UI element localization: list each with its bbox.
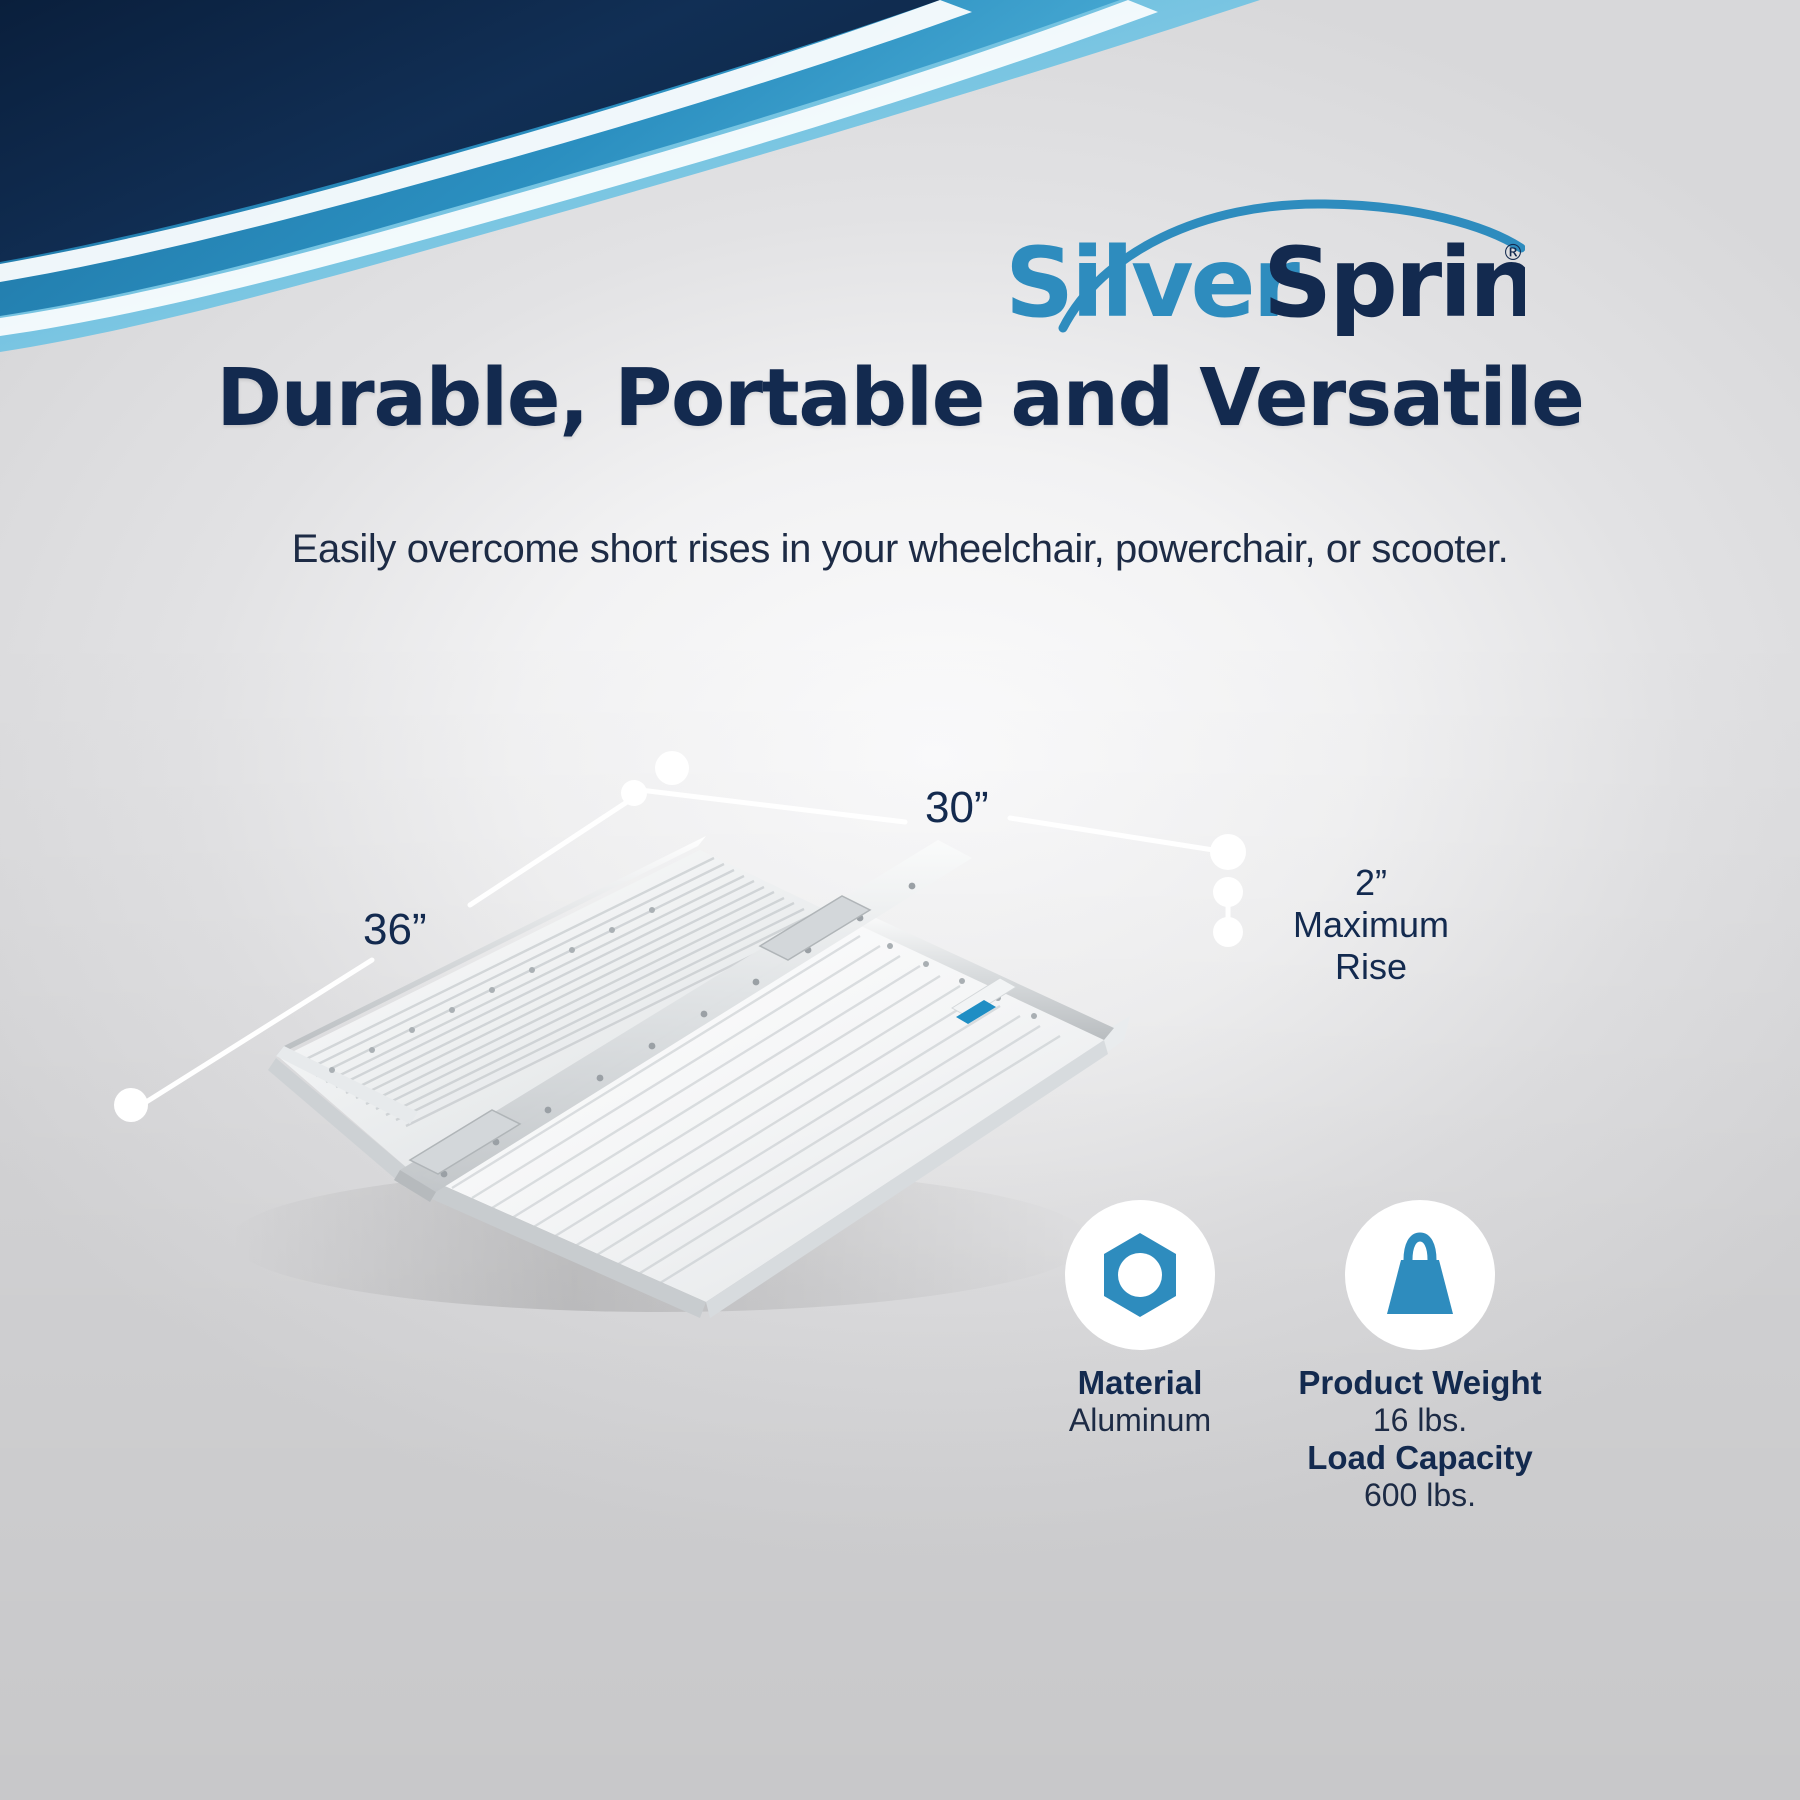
spec-material: Material Aluminum [1010, 1200, 1270, 1439]
spec-material-title: Material [1010, 1364, 1270, 1402]
svg-text:Spring: Spring [1263, 227, 1525, 336]
brand-logo: Silver Spring ® [1005, 196, 1525, 336]
page-subtitle: Easily overcome short rises in your whee… [0, 527, 1800, 572]
spec-capacity-value: 600 lbs. [1280, 1477, 1560, 1514]
callout-30-inches: 30” [925, 783, 989, 833]
callout-max-rise-line3: Rise [1266, 946, 1476, 988]
spec-material-value: Aluminum [1010, 1402, 1270, 1439]
callout-max-rise-line1: 2” [1266, 862, 1476, 904]
weight-icon [1345, 1200, 1495, 1350]
spec-group: Material Aluminum Product Weight 16 lbs.… [1000, 1200, 1560, 1530]
spec-weight-value: 16 lbs. [1280, 1402, 1560, 1439]
spec-capacity-title: Load Capacity [1280, 1439, 1560, 1477]
spec-material-icon-wrap [1065, 1200, 1215, 1350]
spec-weight: Product Weight 16 lbs. Load Capacity 600… [1280, 1200, 1560, 1514]
spec-weight-icon-wrap [1345, 1200, 1495, 1350]
callout-max-rise: 2” Maximum Rise [1266, 862, 1476, 987]
callout-max-rise-line2: Maximum [1266, 904, 1476, 946]
svg-text:®: ® [1502, 241, 1524, 266]
infographic-canvas: Silver Spring ® Durable, Portable and Ve… [0, 0, 1800, 1800]
spec-weight-title: Product Weight [1280, 1364, 1560, 1402]
svg-text:Silver: Silver [1005, 227, 1301, 336]
callout-36-inches: 36” [363, 905, 427, 955]
page-title: Durable, Portable and Versatile [0, 352, 1800, 444]
hex-nut-icon [1065, 1200, 1215, 1350]
